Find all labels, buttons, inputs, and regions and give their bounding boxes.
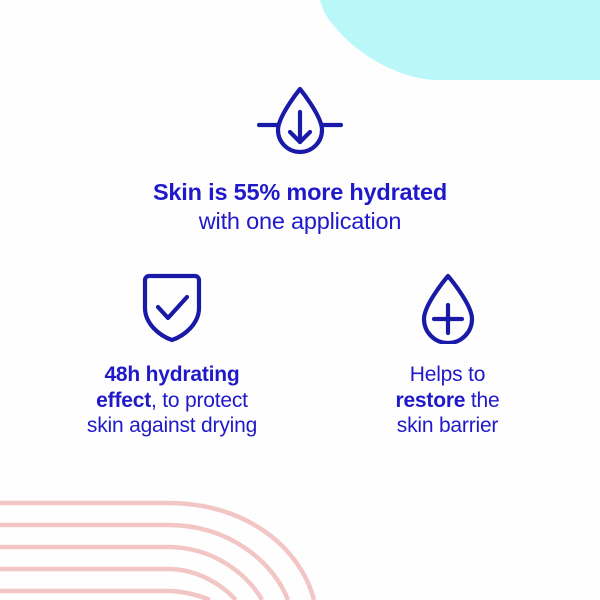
benefit-item-hydration: Skin is 55% more hydrated with one appli… [100, 84, 500, 235]
benefit-caption-skin-barrier: Helps to restore the skin barrier [340, 362, 555, 439]
caption-line: 48h hydrating [48, 362, 296, 388]
caption-line: restore the [340, 388, 555, 414]
benefit-caption-hydration: Skin is 55% more hydrated with one appli… [100, 178, 500, 235]
caption-line: Skin is 55% more hydrated [100, 178, 500, 207]
caption-regular: , to protect [151, 389, 248, 412]
caption-line: Helps to [340, 362, 555, 388]
benefit-item-hydrating-effect: 48h hydrating effect, to protect skin ag… [48, 272, 296, 439]
caption-bold: Skin is 55% more hydrated [153, 179, 447, 205]
caption-regular: Helps to [410, 363, 485, 386]
shield-check-icon [48, 272, 296, 344]
benefit-item-skin-barrier: Helps to restore the skin barrier [340, 272, 555, 439]
caption-regular: with one application [199, 208, 401, 234]
caption-line: with one application [100, 207, 500, 236]
benefit-caption-hydrating-effect: 48h hydrating effect, to protect skin ag… [48, 362, 296, 439]
caption-line: effect, to protect [48, 388, 296, 414]
water-drop-plus-icon [340, 272, 555, 344]
caption-regular: skin against drying [87, 414, 257, 437]
caption-line: skin against drying [48, 413, 296, 439]
caption-bold: effect [96, 389, 151, 412]
caption-regular: the [465, 389, 499, 412]
caption-regular: skin barrier [397, 414, 498, 437]
benefits-content: Skin is 55% more hydrated with one appli… [0, 0, 600, 600]
caption-line: skin barrier [340, 413, 555, 439]
caption-bold: 48h hydrating [104, 363, 239, 386]
water-drop-down-arrow-icon [100, 84, 500, 158]
infographic-canvas: Skin is 55% more hydrated with one appli… [0, 0, 600, 600]
caption-bold: restore [395, 389, 465, 412]
